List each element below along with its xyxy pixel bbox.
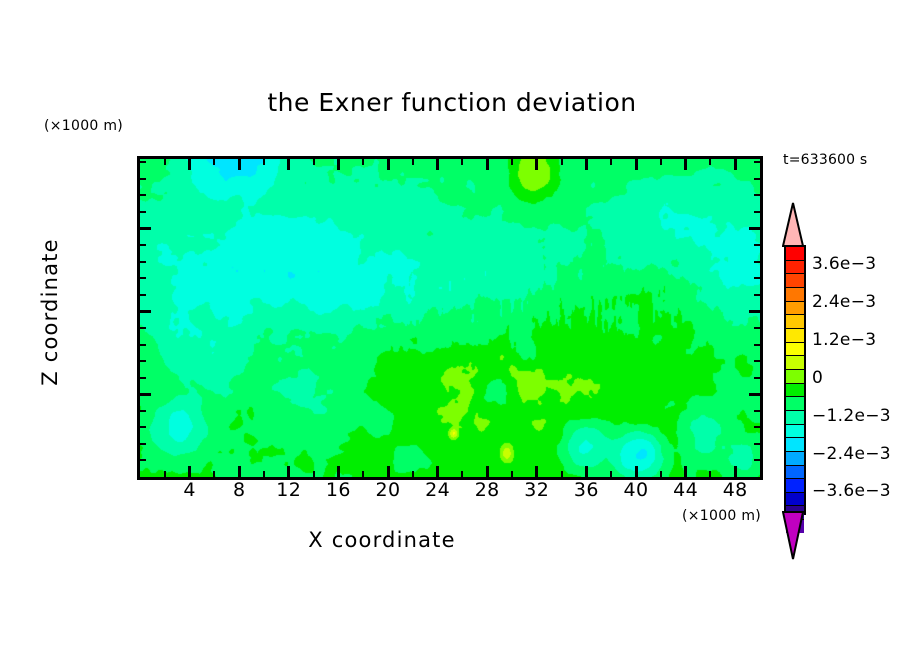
x-axis-title: X coordinate [0,528,904,552]
colorbar-tick-label: 0 [812,368,823,388]
x-tick-label: 20 [376,479,401,501]
colorbar-band [786,302,804,316]
colorbar-band [786,411,804,425]
colorbar-band [786,384,804,398]
colorbar-band [786,261,804,275]
colorbar-band [786,274,804,288]
colorbar-tick-label: −1.2e−3 [812,406,891,426]
colorbar-band [786,370,804,384]
contour-plot-area[interactable] [137,156,763,480]
colorbar-band [786,329,804,343]
x-tick-label: 12 [276,479,301,501]
colorbar-under-arrow-icon [782,511,804,560]
x-tick-label: 48 [723,479,748,501]
y-axis-units-label: (×1000 m) [44,118,123,134]
colorbar-tick-label: 3.6e−3 [812,254,876,274]
y-axis-title: Z coordinate [38,202,62,422]
colorbar-band [786,479,804,493]
x-tick-label: 36 [574,479,599,501]
x-tick-label: 4 [183,479,196,501]
colorbar-tick-label: −2.4e−3 [812,444,891,464]
colorbar-band [786,397,804,411]
colorbar-band [786,466,804,480]
x-tick-label: 32 [524,479,549,501]
colorbar[interactable]: 3.6e−32.4e−31.2e−30−1.2e−3−2.4e−3−3.6e−3 [768,198,904,528]
x-tick-label: 8 [233,479,246,501]
colorbar-bands [784,245,806,515]
contour-field [140,159,760,477]
x-tick-label: 44 [673,479,698,501]
colorbar-band [786,438,804,452]
x-tick-label: 28 [475,479,500,501]
colorbar-tick-label: 1.2e−3 [812,330,876,350]
x-axis-units-label: (×1000 m) [682,508,761,524]
colorbar-band [786,288,804,302]
colorbar-tick-label: 2.4e−3 [812,292,876,312]
colorbar-band [786,425,804,439]
time-stamp-label: t=633600 s [783,152,867,168]
colorbar-band [786,356,804,370]
colorbar-band [786,452,804,466]
page-title: the Exner function deviation [0,88,904,117]
colorbar-band [786,343,804,357]
colorbar-band [786,315,804,329]
colorbar-band [786,493,804,507]
x-tick-label: 40 [624,479,649,501]
colorbar-tick-label: −3.6e−3 [812,481,891,501]
x-tick-label: 16 [326,479,351,501]
x-tick-label: 24 [425,479,450,501]
colorbar-band [786,247,804,261]
colorbar-over-arrow-icon [782,202,804,247]
